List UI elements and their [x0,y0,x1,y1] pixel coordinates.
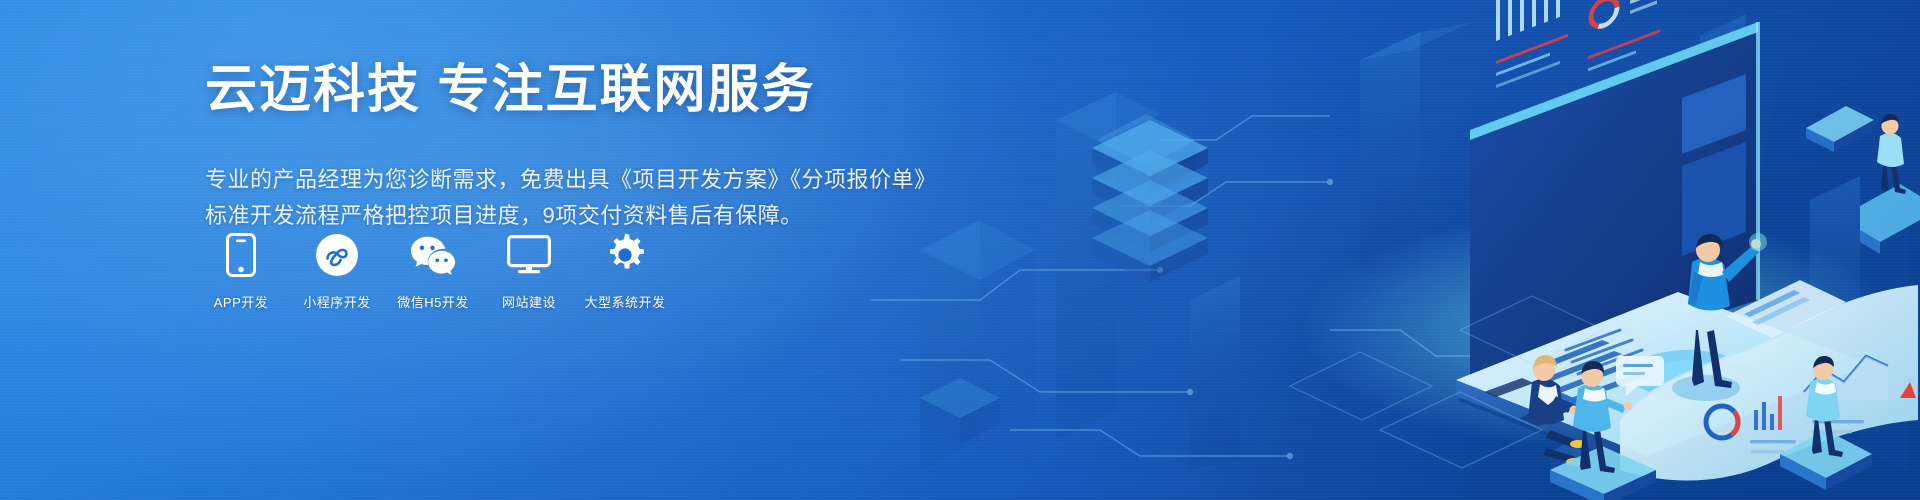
service-item-wechat[interactable]: 微信H5开发 [397,232,469,311]
service-item-website[interactable]: 网站建设 [493,232,565,311]
mini-program-icon [314,232,360,278]
gear-icon [602,232,648,278]
page-title: 云迈科技 专注互联网服务 [205,62,925,119]
service-label-large-system: 大型系统开发 [585,292,666,311]
promo-banner: 云迈科技 专注互联网服务 专业的产品经理为您诊断需求，免费出具《项目开发方案》《… [0,0,1920,500]
service-icon-list: APP开发 小程序开发 [205,232,661,311]
dashboard-bar-chart [1496,0,1568,88]
dashboard-area-chart [1588,0,1660,71]
service-label-app: APP开发 [214,292,269,311]
service-item-large-system[interactable]: 大型系统开发 [589,232,661,311]
service-label-wechat: 微信H5开发 [397,292,469,311]
subtitle-line-2: 标准开发流程严格把控项目进度，9项交付资料售后有保障。 [205,198,925,234]
service-item-mini-program[interactable]: 小程序开发 [301,232,373,311]
wechat-icon [410,232,456,278]
hero-illustration [860,0,1920,500]
floating-mini-card [1806,106,1874,152]
service-item-app[interactable]: APP开发 [205,232,277,311]
monitor-icon [506,232,552,278]
subtitle-line-1: 专业的产品经理为您诊断需求，免费出具《项目开发方案》《分项报价单》 [205,162,925,198]
mobile-phone-icon [218,232,264,278]
server-stack [1092,120,1208,282]
banner-subtitle: 专业的产品经理为您诊断需求，免费出具《项目开发方案》《分项报价单》 标准开发流程… [205,162,925,234]
service-label-mini-program: 小程序开发 [303,292,371,311]
banner-copy: 云迈科技 专注互联网服务 专业的产品经理为您诊断需求，免费出具《项目开发方案》《… [205,62,925,234]
service-label-website: 网站建设 [502,292,556,311]
